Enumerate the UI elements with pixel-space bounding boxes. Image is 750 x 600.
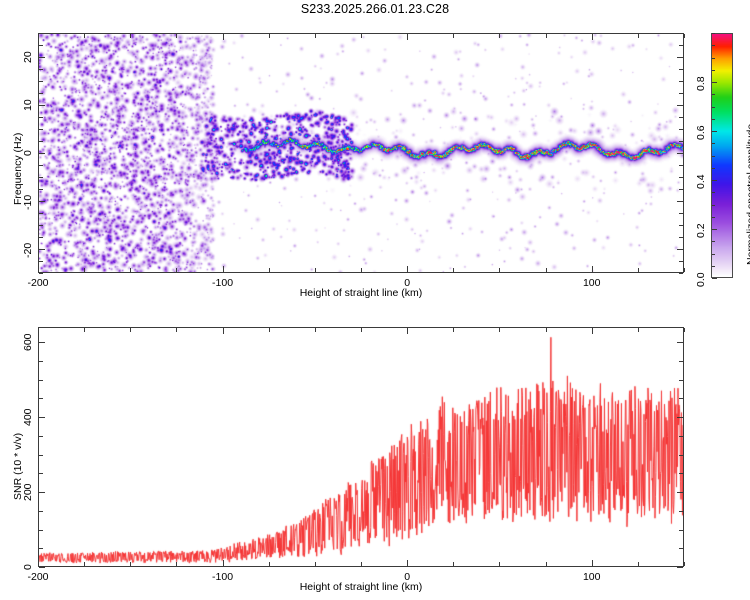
colorbar-tick: [712, 180, 717, 181]
axis-tick: [679, 361, 683, 362]
axis-tick: [453, 268, 454, 272]
axis-tick: [39, 249, 45, 250]
page-title: S233.2025.266.01.23.C28: [0, 2, 750, 16]
axis-tick: [39, 141, 43, 142]
axis-tick: [269, 268, 270, 272]
axis-tick: [407, 266, 408, 272]
axis-tick: [130, 268, 131, 272]
axis-tick: [38, 34, 39, 40]
axis-tick: [679, 117, 683, 118]
axis-tick: [39, 57, 45, 58]
axis-tick: [677, 201, 683, 202]
axis-tick: [38, 328, 39, 334]
axis-tick: [176, 328, 177, 332]
axis-tick: [315, 328, 316, 332]
axis-tick: [130, 328, 131, 332]
colorbar-tick-label: 0.0: [695, 273, 707, 288]
colorbar-tick: [712, 192, 715, 193]
snr-panel: [38, 327, 684, 567]
axis-tick: [679, 141, 683, 142]
axis-tick: [84, 34, 85, 38]
axis-tick: [592, 560, 593, 566]
axis-tick: [223, 266, 224, 272]
axis-tick: [39, 105, 45, 106]
axis-tick: [361, 328, 362, 332]
colorbar-tick: [712, 205, 715, 206]
axis-tick: [679, 33, 683, 34]
axis-tick: [176, 34, 177, 38]
colorbar-tick: [712, 94, 715, 95]
axis-tick: [453, 328, 454, 332]
axis-tick: [679, 189, 683, 190]
x-tick-label: -200: [27, 277, 48, 289]
colorbar-tick-label: 0.2: [695, 224, 707, 239]
axis-tick: [679, 69, 683, 70]
axis-tick: [315, 268, 316, 272]
axis-tick: [39, 201, 45, 202]
colorbar-tick: [712, 266, 715, 267]
axis-tick: [453, 34, 454, 38]
colorbar-tick-label: 0.6: [695, 126, 707, 141]
axis-tick: [39, 398, 43, 399]
axis-tick: [39, 129, 43, 130]
axis-tick: [679, 225, 683, 226]
axis-tick: [679, 436, 683, 437]
colorbar-tick-label: 0.8: [695, 77, 707, 92]
colorbar-tick: [712, 33, 715, 34]
x-tick-label: -200: [27, 571, 48, 583]
axis-tick: [499, 562, 500, 566]
axis-tick: [677, 105, 683, 106]
axis-tick: [453, 562, 454, 566]
axis-tick: [677, 249, 683, 250]
axis-tick: [39, 165, 43, 166]
axis-tick: [546, 268, 547, 272]
axis-tick: [592, 34, 593, 40]
colorbar-tick: [712, 82, 717, 83]
axis-tick: [407, 34, 408, 40]
colorbar-tick: [712, 131, 717, 132]
axis-tick: [677, 417, 683, 418]
colorbar-tick: [712, 254, 715, 255]
axis-tick: [39, 361, 43, 362]
axis-tick: [499, 268, 500, 272]
axis-tick: [546, 328, 547, 332]
axis-tick: [679, 455, 683, 456]
snr-y-axis-title: SNR (10 * v/v): [12, 433, 24, 500]
axis-tick: [39, 45, 43, 46]
axis-tick: [679, 530, 683, 531]
axis-tick: [679, 129, 683, 130]
x-tick-label: -100: [212, 571, 233, 583]
axis-tick: [407, 328, 408, 334]
axis-tick: [39, 117, 43, 118]
axis-tick: [39, 93, 43, 94]
axis-tick: [499, 328, 500, 332]
axis-tick: [638, 34, 639, 38]
axis-tick: [638, 562, 639, 566]
axis-tick: [679, 380, 683, 381]
axis-tick: [39, 213, 43, 214]
axis-tick: [677, 57, 683, 58]
axis-tick: [39, 225, 43, 226]
axis-tick: [546, 34, 547, 38]
axis-tick: [677, 153, 683, 154]
axis-tick: [677, 567, 683, 568]
axis-tick: [39, 511, 43, 512]
axis-tick: [39, 473, 43, 474]
colorbar-tick: [712, 217, 715, 218]
axis-tick: [315, 34, 316, 38]
axis-tick: [546, 562, 547, 566]
axis-tick: [677, 492, 683, 493]
axis-tick: [361, 268, 362, 272]
axis-tick: [679, 45, 683, 46]
colorbar-tick: [712, 70, 715, 71]
axis-tick: [315, 562, 316, 566]
colorbar-tick: [712, 107, 715, 108]
axis-tick: [39, 237, 43, 238]
axis-tick: [39, 189, 43, 190]
axis-tick: [223, 560, 224, 566]
axis-tick: [39, 153, 45, 154]
y-tick-label: -20: [22, 243, 34, 258]
axis-tick: [684, 268, 685, 272]
axis-tick: [39, 548, 43, 549]
colorbar-tick: [712, 143, 715, 144]
axis-tick: [638, 328, 639, 332]
figure-root: S233.2025.266.01.23.C28 -200-1000100 -20…: [0, 0, 750, 600]
axis-tick: [592, 328, 593, 334]
snr-canvas: [39, 328, 683, 566]
axis-tick: [679, 81, 683, 82]
axis-tick: [679, 93, 683, 94]
axis-tick: [39, 417, 45, 418]
axis-tick: [223, 34, 224, 40]
axis-tick: [592, 266, 593, 272]
axis-tick: [39, 261, 43, 262]
axis-tick: [39, 273, 43, 274]
axis-tick: [679, 165, 683, 166]
axis-tick: [39, 530, 43, 531]
axis-tick: [39, 69, 43, 70]
axis-tick: [679, 261, 683, 262]
axis-tick: [39, 177, 43, 178]
axis-tick: [269, 34, 270, 38]
axis-tick: [269, 328, 270, 332]
colorbar-tick: [712, 119, 715, 120]
y-tick-label: 10: [22, 99, 34, 111]
axis-tick: [679, 511, 683, 512]
colorbar-tick: [712, 278, 717, 279]
axis-tick: [499, 34, 500, 38]
axis-tick: [679, 398, 683, 399]
axis-tick: [84, 328, 85, 332]
axis-tick: [684, 328, 685, 332]
axis-tick: [39, 436, 43, 437]
axis-tick: [361, 562, 362, 566]
axis-tick: [39, 81, 43, 82]
axis-tick: [684, 34, 685, 38]
snr-x-axis-title: Height of straight line (km): [300, 581, 423, 593]
y-tick-label: 600: [22, 334, 34, 352]
y-tick-label: 0: [22, 564, 34, 570]
axis-tick: [38, 560, 39, 566]
axis-tick: [269, 562, 270, 566]
axis-tick: [677, 342, 683, 343]
axis-tick: [223, 328, 224, 334]
axis-tick: [39, 380, 43, 381]
colorbar-tick: [712, 229, 717, 230]
axis-tick: [679, 273, 683, 274]
x-tick-label: 100: [583, 571, 601, 583]
colorbar-axis-title: Normalized spectral amplitude: [745, 124, 750, 265]
y-tick-label: 20: [22, 51, 34, 63]
axis-tick: [361, 34, 362, 38]
axis-tick: [176, 562, 177, 566]
axis-tick: [684, 562, 685, 566]
axis-tick: [39, 567, 45, 568]
spectrogram-y-axis-title: Frequency (Hz): [12, 133, 24, 205]
axis-tick: [39, 33, 43, 34]
axis-tick: [130, 34, 131, 38]
colorbar-tick: [712, 168, 715, 169]
axis-tick: [84, 562, 85, 566]
colorbar-tick: [712, 58, 715, 59]
colorbar-tick: [712, 156, 715, 157]
axis-tick: [38, 266, 39, 272]
colorbar-tick-label: 0.4: [695, 175, 707, 190]
x-tick-label: -100: [212, 277, 233, 289]
axis-tick: [130, 562, 131, 566]
axis-tick: [176, 268, 177, 272]
spectrogram-canvas: [39, 34, 683, 272]
axis-tick: [679, 177, 683, 178]
axis-tick: [679, 473, 683, 474]
axis-tick: [638, 268, 639, 272]
axis-tick: [679, 213, 683, 214]
axis-tick: [84, 268, 85, 272]
axis-tick: [39, 342, 45, 343]
spectrogram-x-axis-title: Height of straight line (km): [300, 287, 423, 299]
axis-tick: [39, 455, 43, 456]
y-tick-label: 400: [22, 409, 34, 427]
axis-tick: [679, 237, 683, 238]
axis-tick: [407, 560, 408, 566]
axis-tick: [39, 492, 45, 493]
axis-tick: [679, 548, 683, 549]
colorbar-tick: [712, 45, 715, 46]
x-tick-label: 100: [583, 277, 601, 289]
spectrogram-panel: [38, 33, 684, 273]
colorbar-tick: [712, 241, 715, 242]
